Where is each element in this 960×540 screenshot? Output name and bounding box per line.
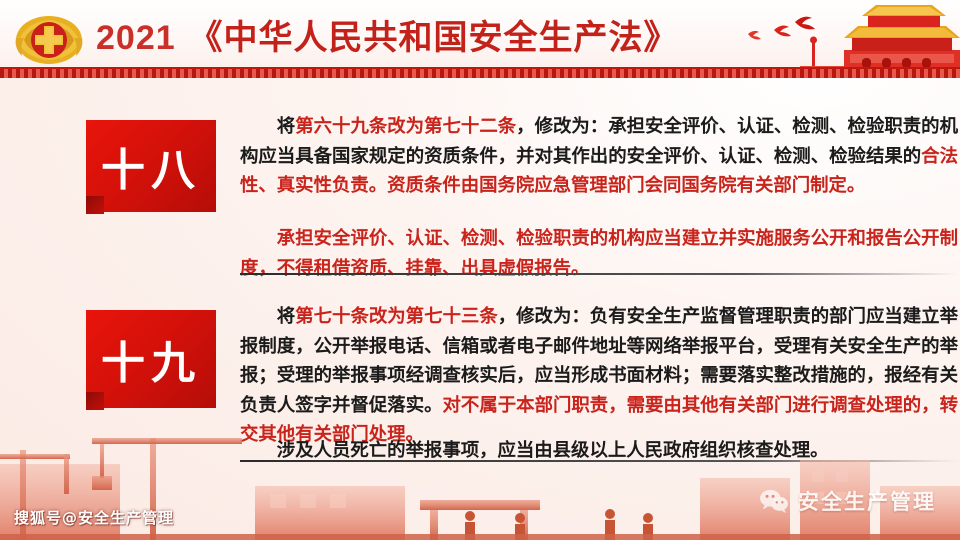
tag-fold-corner-18	[86, 196, 104, 214]
run-text-red: 第七十条改为第七十三条	[295, 306, 498, 327]
run-text-red: 第六十九条改为第七十二条	[295, 116, 516, 137]
title-year: 2021	[96, 19, 176, 57]
national-emergency-management-emblem	[14, 12, 84, 66]
run-text: 将	[277, 306, 295, 327]
header-stripe-divider	[0, 67, 960, 78]
slide-header: 2021 《中华人民共和国安全生产法》	[0, 0, 960, 78]
tag-fold-corner-19	[86, 392, 104, 410]
wechat-account-name: 安全生产管理	[798, 486, 936, 516]
slide-canvas: 2021 《中华人民共和国安全生产法》	[0, 0, 960, 540]
run-text: 将	[277, 116, 295, 137]
title-law-name: 《中华人民共和国安全生产法》	[188, 18, 678, 58]
amendment-paragraph-18-1: 将第六十九条改为第七十二条，修改为：承担安全评价、认证、检测、检验职责的机构应当…	[240, 112, 958, 201]
page-title: 2021 《中华人民共和国安全生产法》	[96, 14, 678, 62]
amendment-paragraph-19-1: 将第七十条改为第七十三条，修改为：负有安全生产监督管理职责的部门应当建立举报制度…	[240, 302, 958, 450]
block-divider-18	[240, 273, 958, 275]
amendment-number-tag-18: 十八	[86, 120, 216, 212]
sohu-watermark: 搜狐号@安全生产管理	[14, 507, 174, 528]
amendment-number-tag-19: 十九	[86, 310, 216, 408]
run-text-red: 承担安全评价、认证、检测、检验职责的机构应当建立并实施服务公开和报告公开制度，不…	[240, 228, 958, 279]
wechat-icon	[759, 488, 789, 514]
wechat-account-watermark: 安全生产管理	[759, 486, 936, 516]
